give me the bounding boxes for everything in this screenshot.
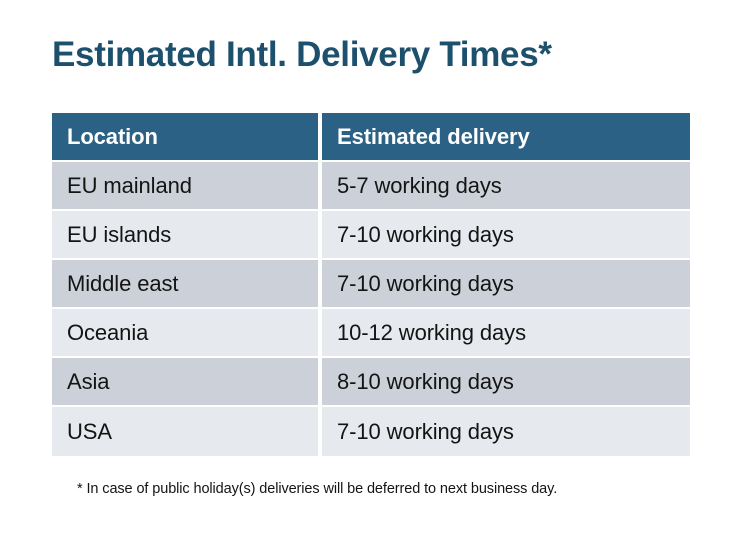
cell-delivery: 7-10 working days bbox=[322, 260, 690, 309]
cell-location: EU islands bbox=[52, 211, 322, 260]
footnote-text: * In case of public holiday(s) deliverie… bbox=[77, 481, 557, 497]
cell-location: USA bbox=[52, 407, 322, 456]
delivery-times-page: Estimated Intl. Delivery Times* Location… bbox=[0, 0, 745, 536]
cell-delivery: 7-10 working days bbox=[322, 211, 690, 260]
table-body: EU mainland 5-7 working days EU islands … bbox=[52, 162, 690, 456]
cell-delivery: 7-10 working days bbox=[322, 407, 690, 456]
column-header-location: Location bbox=[52, 113, 322, 162]
page-title: Estimated Intl. Delivery Times* bbox=[52, 36, 552, 75]
table-row: Middle east 7-10 working days bbox=[52, 260, 690, 309]
cell-location: Asia bbox=[52, 358, 322, 407]
table-row: Asia 8-10 working days bbox=[52, 358, 690, 407]
table-row: EU islands 7-10 working days bbox=[52, 211, 690, 260]
table-header: Location Estimated delivery bbox=[52, 113, 690, 162]
cell-delivery: 8-10 working days bbox=[322, 358, 690, 407]
column-header-estimated-delivery: Estimated delivery bbox=[322, 113, 690, 162]
cell-delivery: 10-12 working days bbox=[322, 309, 690, 358]
table-row: USA 7-10 working days bbox=[52, 407, 690, 456]
table-row: EU mainland 5-7 working days bbox=[52, 162, 690, 211]
delivery-times-table: Location Estimated delivery EU mainland … bbox=[52, 113, 690, 456]
table-header-row: Location Estimated delivery bbox=[52, 113, 690, 162]
cell-location: Middle east bbox=[52, 260, 322, 309]
cell-location: Oceania bbox=[52, 309, 322, 358]
cell-delivery: 5-7 working days bbox=[322, 162, 690, 211]
table-row: Oceania 10-12 working days bbox=[52, 309, 690, 358]
cell-location: EU mainland bbox=[52, 162, 322, 211]
